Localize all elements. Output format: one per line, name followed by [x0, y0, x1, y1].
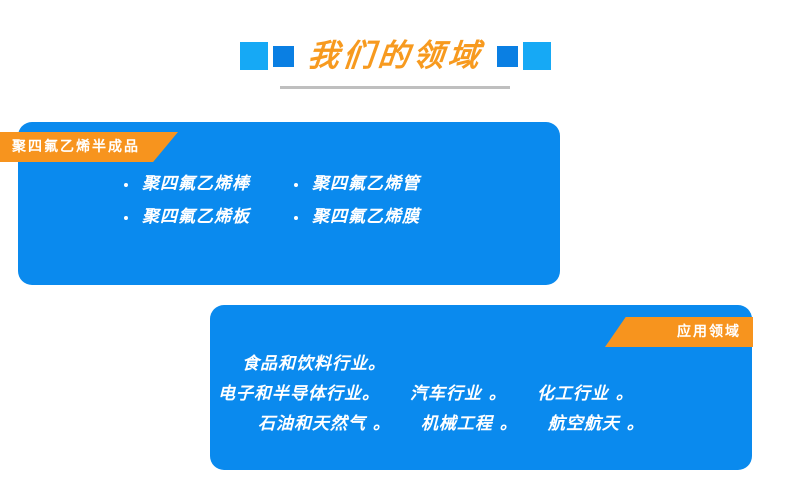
list-item: 聚四氟乙烯管 [294, 176, 420, 193]
page-root: 我们的领域 聚四氟乙烯半成品 聚四氟乙烯棒 聚四氟乙烯管 聚四氟乙烯板 [0, 0, 790, 496]
applications-list: 食品和饮料行业。 电子和半导体行业。 汽车行业 。 化工行业 。 石油和天然气 … [210, 356, 752, 433]
decor-square-dark-right [497, 46, 518, 67]
decor-square-light-right [523, 42, 551, 70]
list-item-label: 聚四氟乙烯板 [142, 209, 250, 226]
list-item-label: 聚四氟乙烯膜 [312, 209, 420, 226]
list-item: 聚四氟乙烯棒 [124, 176, 250, 193]
list-item-label: 航空航天 。 [548, 416, 645, 433]
list-item-label: 聚四氟乙烯管 [312, 176, 420, 193]
bullet-icon [124, 183, 128, 187]
page-header: 我们的领域 [0, 28, 790, 84]
tab-semi-finished: 聚四氟乙烯半成品 [0, 132, 178, 162]
title-divider [280, 86, 510, 89]
decor-square-light-left [240, 42, 268, 70]
tab-applications: 应用领域 [605, 317, 753, 347]
list-item-label: 石油和天然气 。 [258, 416, 391, 433]
list-row: 石油和天然气 。 机械工程 。 航空航天 。 [210, 416, 752, 433]
decor-square-dark-left [273, 46, 294, 67]
list-item-label: 汽车行业 。 [410, 386, 507, 403]
list-item-label: 机械工程 。 [421, 416, 518, 433]
list-row: 聚四氟乙烯板 聚四氟乙烯膜 [18, 209, 560, 226]
list-item: 聚四氟乙烯膜 [294, 209, 420, 226]
bullet-icon [124, 216, 128, 220]
page-title: 我们的领域 [292, 41, 498, 72]
bullet-icon [294, 216, 298, 220]
tab-semi-finished-label: 聚四氟乙烯半成品 [12, 140, 140, 154]
list-row: 聚四氟乙烯棒 聚四氟乙烯管 [18, 176, 560, 193]
list-item-label: 食品和饮料行业。 [242, 356, 386, 373]
list-item-label: 化工行业 。 [537, 386, 634, 403]
list-item-label: 电子和半导体行业。 [218, 386, 380, 403]
list-row: 电子和半导体行业。 汽车行业 。 化工行业 。 [210, 386, 752, 403]
list-item: 聚四氟乙烯板 [124, 209, 250, 226]
bullet-icon [294, 183, 298, 187]
list-row: 食品和饮料行业。 [210, 356, 752, 373]
semi-finished-list: 聚四氟乙烯棒 聚四氟乙烯管 聚四氟乙烯板 聚四氟乙烯膜 [18, 176, 560, 226]
list-item-label: 聚四氟乙烯棒 [142, 176, 250, 193]
tab-applications-label: 应用领域 [677, 325, 741, 339]
